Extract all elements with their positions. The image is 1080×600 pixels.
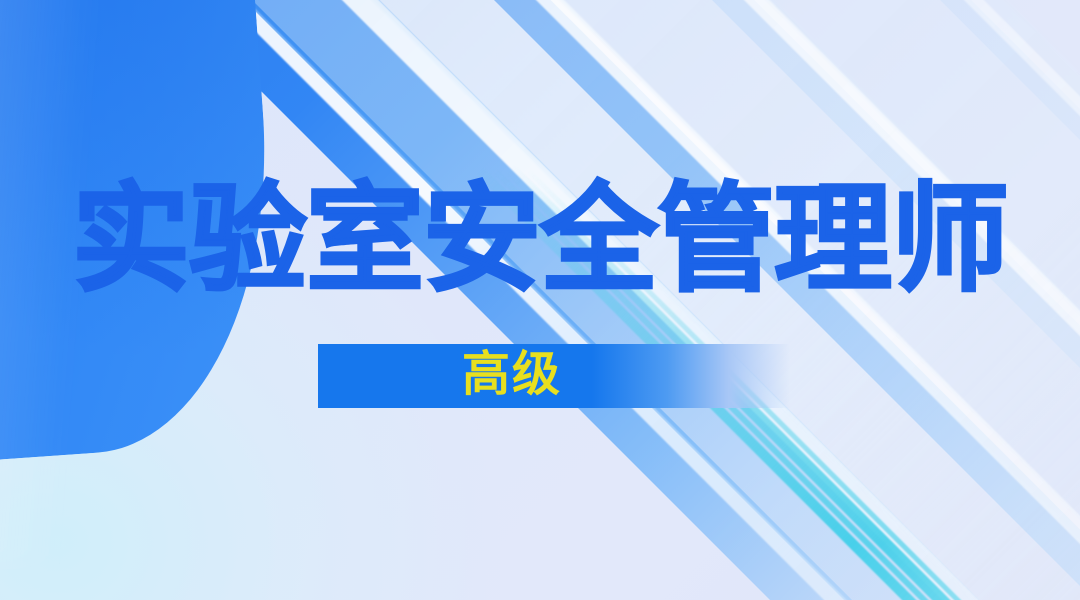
- banner-root: 实验室安全管理师 高级: [0, 0, 1080, 600]
- level-badge-label: 高级: [462, 351, 562, 399]
- title-row: 实验室安全管理师: [0, 181, 1080, 299]
- page-title: 实验室安全管理师: [72, 181, 1008, 299]
- level-badge: 高级: [318, 344, 790, 408]
